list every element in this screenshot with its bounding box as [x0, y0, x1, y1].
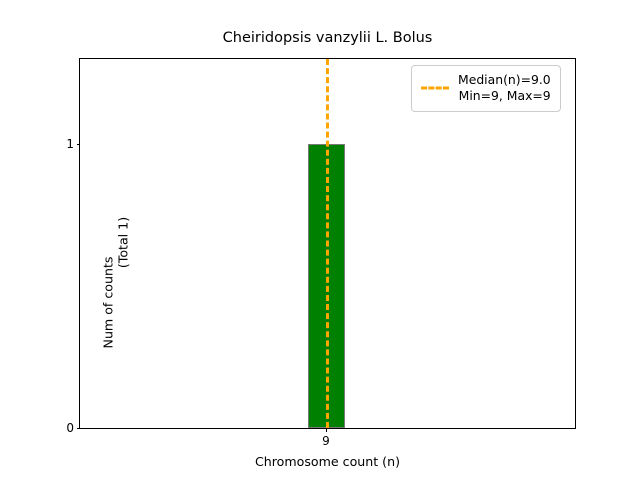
ytick-label-0: 0 [66, 421, 74, 435]
legend-row: Median(n)=9.0 Min=9, Max=9 [421, 72, 551, 105]
legend-label-median: Median(n)=9.0 [458, 72, 551, 88]
chart-legend: Median(n)=9.0 Min=9, Max=9 [411, 65, 561, 112]
legend-label-range: Min=9, Max=9 [459, 88, 551, 104]
chart-figure: Cheiridopsis vanzylii L. Bolus 0 1 9 Med… [0, 0, 640, 480]
xtick-mark-9 [326, 428, 327, 432]
ytick-label-1: 1 [66, 137, 74, 151]
xtick-label-9: 9 [322, 434, 330, 448]
y-axis-label-line1: Num of counts [101, 143, 116, 463]
plot-inner [80, 59, 575, 428]
legend-text-group: Median(n)=9.0 Min=9, Max=9 [458, 72, 551, 105]
median-line [326, 59, 329, 428]
page-title: Cheiridopsis vanzylii L. Bolus [79, 31, 576, 46]
ytick-mark-0 [77, 428, 81, 429]
y-axis-label-line2: (Total 1) [116, 83, 131, 403]
x-axis-label: Chromosome count (n) [79, 454, 576, 469]
plot-area: 0 1 9 Median(n)=9.0 Min=9, Max=9 Num of … [79, 58, 576, 429]
dashed-line-icon [421, 82, 449, 94]
